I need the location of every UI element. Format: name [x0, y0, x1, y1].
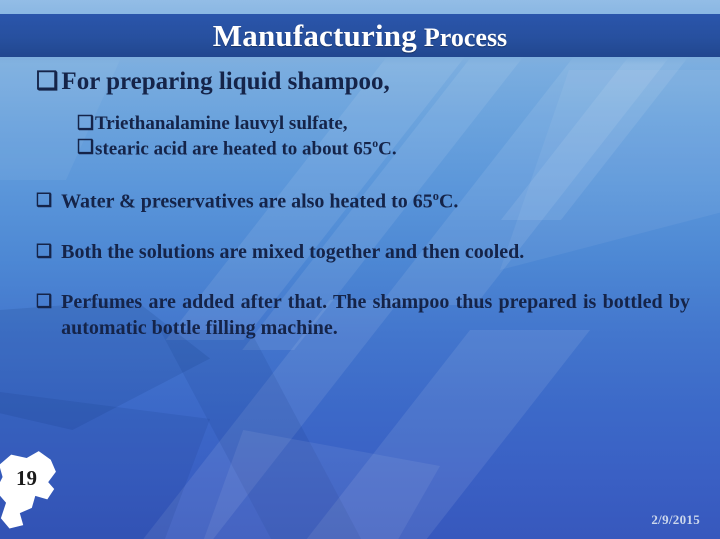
square-bullet-icon: ❑ — [36, 188, 52, 212]
page-number: 19 — [16, 466, 37, 491]
bullet-item-sub: ❑ Triethanalamine lauvyl sulfate, — [0, 112, 720, 136]
bullet-item-paragraph: ❑ Perfumes are added after that. The sha… — [0, 289, 720, 341]
page-title: ManufacturingProcess — [213, 18, 507, 54]
square-bullet-icon: ❑ — [36, 239, 52, 263]
badge-shape-icon — [0, 446, 80, 532]
spacer — [0, 96, 720, 112]
page-number-badge: 19 — [0, 446, 80, 532]
bullet-item-paragraph: ❑ Water & preservatives are also heated … — [0, 188, 720, 215]
spacer — [0, 162, 720, 188]
spacer — [0, 265, 720, 289]
date-stamp: 2/9/2015 — [651, 512, 700, 528]
square-bullet-icon: ❑ — [36, 289, 52, 313]
bullet-text: For preparing liquid shampoo, — [61, 68, 389, 96]
bullet-item-paragraph: ❑ Both the solutions are mixed together … — [0, 239, 720, 265]
spacer — [0, 215, 720, 239]
bullet-text: Perfumes are added after that. The shamp… — [61, 289, 690, 341]
square-bullet-icon: ❑ — [36, 68, 58, 96]
square-bullet-icon: ❑ — [77, 112, 94, 136]
top-accent-strip — [0, 0, 720, 14]
bullet-text: stearic acid are heated to about 65oC. — [95, 136, 397, 162]
slide-body: ❑ For preparing liquid shampoo, ❑ Trieth… — [0, 68, 720, 341]
bullet-item-sub: ❑ stearic acid are heated to about 65oC. — [0, 136, 720, 162]
bullet-text: Water & preservatives are also heated to… — [61, 188, 690, 215]
title-underline-strip — [0, 57, 720, 65]
square-bullet-icon: ❑ — [77, 136, 94, 160]
bullet-item-main: ❑ For preparing liquid shampoo, — [0, 68, 720, 96]
slide: ManufacturingProcess ❑ For preparing liq… — [0, 0, 720, 539]
title-main-word: Manufacturing — [213, 18, 417, 53]
bullet-text: Triethanalamine lauvyl sulfate, — [95, 112, 347, 136]
title-sub-word: Process — [424, 23, 507, 52]
title-bar: ManufacturingProcess — [0, 14, 720, 57]
bullet-text: Both the solutions are mixed together an… — [61, 239, 690, 265]
